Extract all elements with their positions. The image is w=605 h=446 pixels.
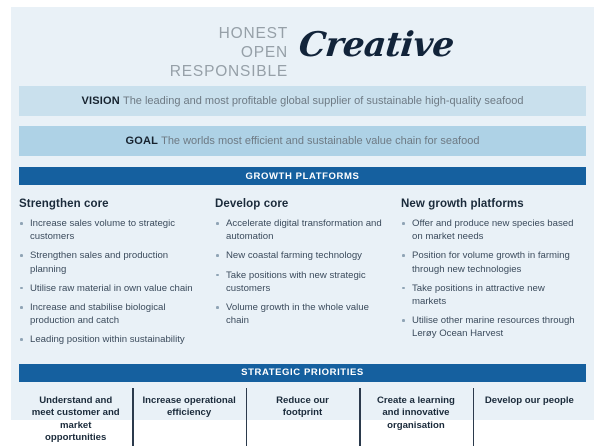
- list-item: Take positions in attractive new markets: [401, 282, 576, 308]
- column-title: New growth platforms: [401, 198, 576, 210]
- priority-card: Increase operational efficiency: [132, 388, 245, 446]
- column-title: Strengthen core: [19, 198, 205, 210]
- vision-band: VISIONThe leading and most profitable gl…: [19, 86, 586, 116]
- list-item: Strengthen sales and production planning: [19, 249, 205, 275]
- strategic-priorities-row: Understand and meet customer and market …: [19, 388, 586, 446]
- list-item: Offer and produce new species based on m…: [401, 217, 576, 243]
- priority-card: Create a learning and innovative organis…: [359, 388, 472, 446]
- priority-label: Increase operational efficiency: [142, 395, 236, 420]
- list-item: Utilise other marine resources through L…: [401, 314, 576, 340]
- list-item: Utilise raw material in own value chain: [19, 282, 205, 295]
- list-item: Accelerate digital transformation and au…: [215, 217, 391, 243]
- goal-label: GOAL: [126, 135, 159, 147]
- vision-text-wrapper: VISIONThe leading and most profitable gl…: [81, 95, 523, 107]
- list-item: Increase sales volume to strategic custo…: [19, 217, 205, 243]
- creative-script-word: Creative: [297, 25, 456, 65]
- priority-label: Reduce our footprint: [256, 395, 350, 420]
- strategy-slide: HONEST OPEN RESPONSIBLE Creative VISIONT…: [11, 7, 594, 420]
- list-item: Leading position within sustainability: [19, 333, 205, 346]
- priority-card: Reduce our footprint: [246, 388, 359, 446]
- goal-text-wrapper: GOALThe worlds most efficient and sustai…: [126, 135, 480, 147]
- bullet-list: Increase sales volume to strategic custo…: [19, 217, 205, 347]
- growth-platform-columns: Strengthen core Increase sales volume to…: [19, 198, 586, 353]
- vision-statement: The leading and most profitable global s…: [123, 95, 524, 107]
- priority-label: Develop our people: [485, 395, 574, 408]
- column-new-growth-platforms: New growth platforms Offer and produce n…: [401, 198, 586, 347]
- vision-label: VISION: [81, 95, 120, 107]
- core-value-open: OPEN: [11, 43, 288, 62]
- priority-card: Develop our people: [473, 388, 586, 446]
- goal-band: GOALThe worlds most efficient and sustai…: [19, 126, 586, 156]
- core-value-responsible: RESPONSIBLE: [11, 62, 288, 81]
- core-value-honest: HONEST: [11, 24, 288, 43]
- slide-header: HONEST OPEN RESPONSIBLE Creative: [11, 7, 594, 86]
- priority-label: Understand and meet customer and market …: [29, 395, 123, 445]
- column-title: Develop core: [215, 198, 391, 210]
- bullet-list: Accelerate digital transformation and au…: [215, 217, 391, 327]
- bullet-list: Offer and produce new species based on m…: [401, 217, 576, 341]
- core-values: HONEST OPEN RESPONSIBLE: [11, 24, 288, 81]
- list-item: Increase and stabilise biological produc…: [19, 301, 205, 327]
- list-item: Position for volume growth in farming th…: [401, 249, 576, 275]
- strategic-priorities-band: STRATEGIC PRIORITIES: [19, 364, 586, 382]
- goal-statement: The worlds most efficient and sustainabl…: [161, 135, 479, 147]
- priority-label: Create a learning and innovative organis…: [369, 395, 463, 433]
- list-item: Volume growth in the whole value chain: [215, 301, 391, 327]
- column-strengthen-core: Strengthen core Increase sales volume to…: [19, 198, 215, 353]
- priority-card: Understand and meet customer and market …: [19, 388, 132, 446]
- list-item: Take positions with new strategic custom…: [215, 269, 391, 295]
- column-develop-core: Develop core Accelerate digital transfor…: [215, 198, 401, 333]
- list-item: New coastal farming technology: [215, 249, 391, 262]
- growth-platforms-band: GROWTH PLATFORMS: [19, 167, 586, 185]
